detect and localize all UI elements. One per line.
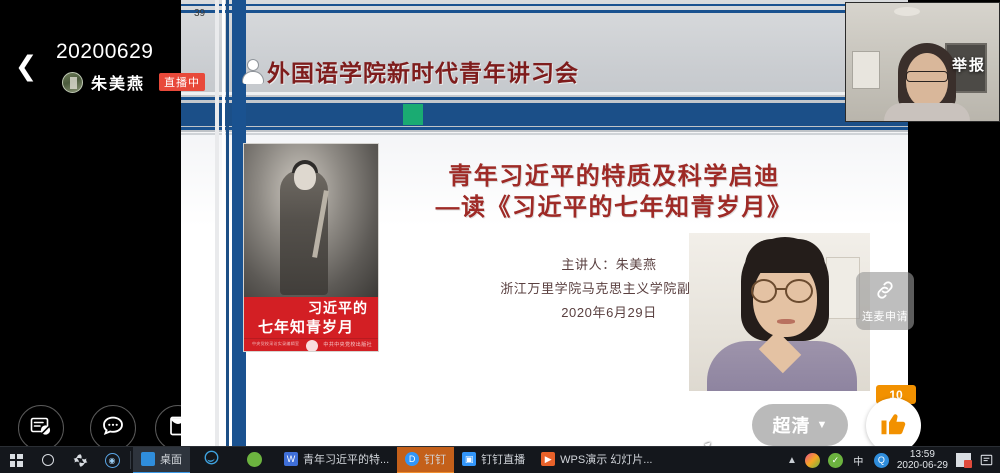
wps-presentation-icon: W <box>284 452 298 466</box>
link-icon <box>874 279 896 305</box>
stream-quality-label: 超清 <box>773 412 811 438</box>
stream-quality-button[interactable]: 超清 ▼ <box>752 404 848 446</box>
slide-decor-line-6 <box>181 133 908 135</box>
app-pinned-icon[interactable]: ◉ <box>96 447 128 473</box>
slide-decor-band <box>181 103 908 126</box>
green-app-icon <box>247 452 262 467</box>
tray-expand-chevron-icon[interactable]: ▲ <box>787 455 797 466</box>
danmaku-toggle-button[interactable] <box>18 405 64 451</box>
taskbar-item-desktop[interactable]: 桌面 <box>133 447 190 473</box>
clock-time: 13:59 <box>897 449 948 461</box>
slide-decor-line-3 <box>181 92 908 95</box>
mic-request-label: 连麦申请 <box>862 308 908 324</box>
report-button[interactable]: 举报 <box>952 54 986 75</box>
back-button[interactable]: ❮ <box>14 52 38 82</box>
notification-icon[interactable] <box>979 453 994 467</box>
red-badge-app-icon[interactable] <box>956 453 971 467</box>
colors-icon[interactable] <box>805 453 820 468</box>
windows-start-icon[interactable] <box>0 447 32 473</box>
chat-bubble-icon <box>100 413 126 444</box>
wps-icon: ▶ <box>541 452 555 466</box>
taskbar-item-wps-doc[interactable]: W 青年习近平的特... <box>276 447 397 473</box>
chat-button[interactable] <box>90 405 136 451</box>
taskbar-item-dingtalk-live[interactable]: ▣ 钉钉直播 <box>454 447 533 473</box>
clock-date: 2020-06-29 <box>897 460 948 472</box>
thumbs-up-icon <box>879 408 909 443</box>
live-header: ❮ 20200629 朱美燕 直播中 <box>0 30 240 100</box>
host-info[interactable]: 朱美燕 直播中 <box>62 70 205 94</box>
slide-decor-line-1 <box>181 4 908 6</box>
dingtalk-live-icon: ▣ <box>462 452 476 466</box>
book-cover-image: 习近平的 七年知青岁月 中央党校采访实录编辑室 中共中央党校出版社 <box>243 143 379 352</box>
person-icon <box>241 57 265 85</box>
live-status-badge: 直播中 <box>159 73 205 91</box>
book-editor: 中央党校采访实录编辑室 <box>252 341 299 347</box>
taskbar-item-dingtalk[interactable]: D 钉钉 <box>397 447 454 473</box>
taskbar-item-edge[interactable] <box>190 447 233 473</box>
shield-icon[interactable]: ✓ <box>828 453 843 468</box>
chevron-down-icon: ▼ <box>817 419 828 431</box>
dingtalk-icon: D <box>405 452 419 466</box>
book-publisher: 中共中央党校出版社 <box>323 341 372 348</box>
ime-chinese-icon[interactable]: 中 <box>851 453 866 468</box>
taskbar-item-label: WPS演示 幻灯片... <box>560 451 652 467</box>
slide-decor-green-square <box>403 104 423 125</box>
slide-header-title: 外国语学院新时代青年讲习会 <box>267 54 579 88</box>
desktop-icon <box>141 452 155 466</box>
taskbar-item-label: 钉钉直播 <box>481 451 525 467</box>
live-title-date: 20200629 <box>56 40 153 64</box>
red-envelope-icon <box>166 414 190 443</box>
taskbar-clock[interactable]: 13:59 2020-06-29 <box>897 449 948 472</box>
slide-title-line-2: —读《习近平的七年知青岁月》 <box>389 192 839 223</box>
live-stream-screen: 外国语学院新时代青年讲习会 39 习近平的 七年知青岁月 中央党校采访实录编辑室… <box>0 0 1000 473</box>
presenter-video[interactable] <box>689 233 870 391</box>
slide-decor-line-5 <box>181 127 908 130</box>
slide-decor-line-2 <box>181 10 908 13</box>
avatar[interactable] <box>62 72 83 93</box>
slide-header: 外国语学院新时代青年讲习会 <box>241 54 579 88</box>
task-view-icon[interactable] <box>64 447 96 473</box>
slide-main-heading: 青年习近平的特质及科学启迪 —读《习近平的七年知青岁月》 <box>389 162 839 223</box>
like-button[interactable] <box>866 398 921 453</box>
taskbar-item-wps-slideshow[interactable]: ▶ WPS演示 幻灯片... <box>533 447 660 473</box>
taskbar-separator <box>130 451 131 469</box>
book-title-line-1: 习近平的 <box>308 298 368 318</box>
slide-decor-line-4 <box>181 97 908 100</box>
taskbar-item-label: 桌面 <box>160 451 182 467</box>
publisher-seal-icon <box>306 340 318 352</box>
slide-title-line-1: 青年习近平的特质及科学启迪 <box>389 162 839 192</box>
edge-icon <box>204 450 219 468</box>
gift-button[interactable] <box>155 405 201 451</box>
search-circle-icon[interactable] <box>32 447 64 473</box>
host-name: 朱美燕 <box>91 70 145 94</box>
taskbar-item-label: 钉钉 <box>424 451 446 467</box>
windows-taskbar: ◉ 桌面 W 青年习近平的特... D 钉钉 ▣ 钉钉直播 ▶ WPS演示 <box>0 446 1000 473</box>
qq-icon[interactable]: Q <box>874 453 889 468</box>
taskbar-item-label: 青年习近平的特... <box>303 451 389 467</box>
taskbar-item-green-app[interactable] <box>233 447 276 473</box>
viewer-count: 39 <box>194 8 205 19</box>
mic-request-button[interactable]: 连麦申请 <box>856 272 914 330</box>
system-tray: ▲ ✓ 中 Q 13:59 2020-06-29 <box>787 449 1000 472</box>
danmaku-off-icon <box>29 414 53 443</box>
book-title-line-2: 七年知青岁月 <box>258 316 354 337</box>
